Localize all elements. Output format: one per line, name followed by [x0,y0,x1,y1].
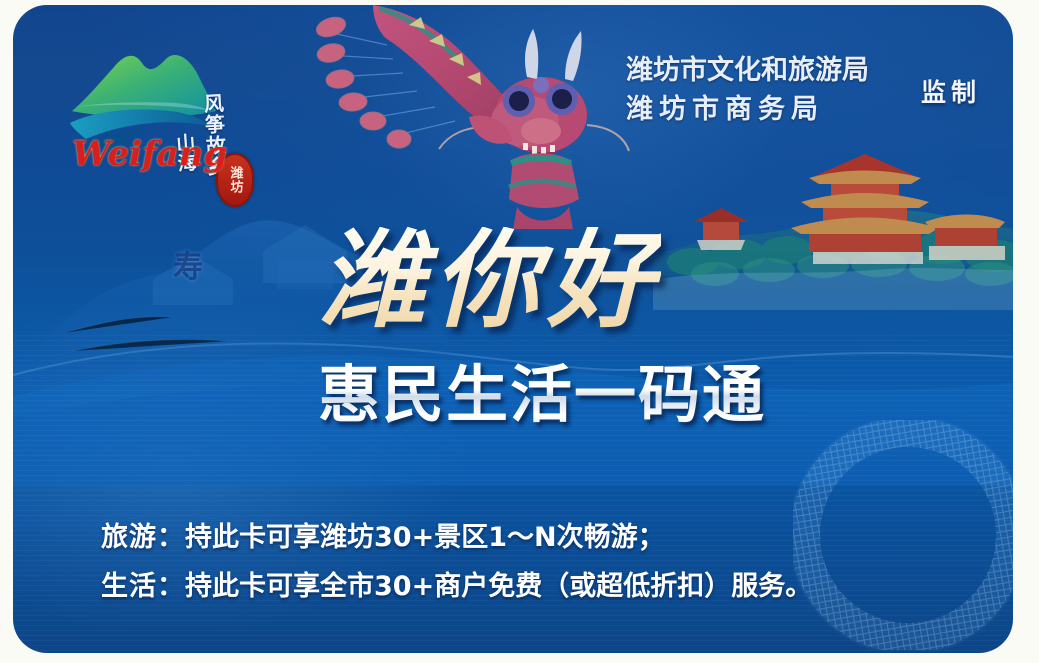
water-line-texture [13,335,1013,653]
benefit-label-life: 生活： [101,571,185,602]
benefit-text-travel: 持此卡可享潍坊30+景区1～N次畅游； [185,522,665,553]
department-line-2: 潍坊市商务局 [626,90,869,129]
page-title: 潍你好 [319,227,661,333]
department-line-1: 潍坊市文化和旅游局 [626,51,869,90]
benefit-text-life: 持此卡可享全市30+商户免费（或超低折扣）服务。 [185,571,812,602]
supervising-departments: 潍坊市文化和旅游局 潍坊市商务局 [626,51,869,129]
page-subtitle: 惠民生活一码通 [318,360,766,430]
card-surface: 寿 [13,5,1013,653]
supervised-by-label: 监制 [921,73,981,113]
benefit-label-travel: 旅游： [101,522,185,553]
logo-wordmark: Weifang [72,137,227,171]
shou-character-carving: 寿 [171,253,205,283]
weifang-tourism-logo: 风筝故乡 山海 潍坊 Weifang [68,45,253,175]
left-glow [13,305,593,653]
pagoda-temple-landmark [653,110,1013,310]
promotional-card-poster: 寿 [0,0,1039,663]
top-glow [263,5,883,305]
benefit-row-travel: 旅游：持此卡可享潍坊30+景区1～N次畅游； [101,513,812,562]
seal-text: 潍坊 [229,166,242,194]
benefit-row-life: 生活：持此卡可享全市30+商户免费（或超低折扣）服务。 [101,562,812,611]
dragon-kite [313,5,643,229]
wave-crest [13,305,1013,485]
mesh-ring-decor [793,420,1013,650]
benefits-list: 旅游：持此卡可享潍坊30+景区1～N次畅游； 生活：持此卡可享全市30+商户免费… [101,513,812,611]
